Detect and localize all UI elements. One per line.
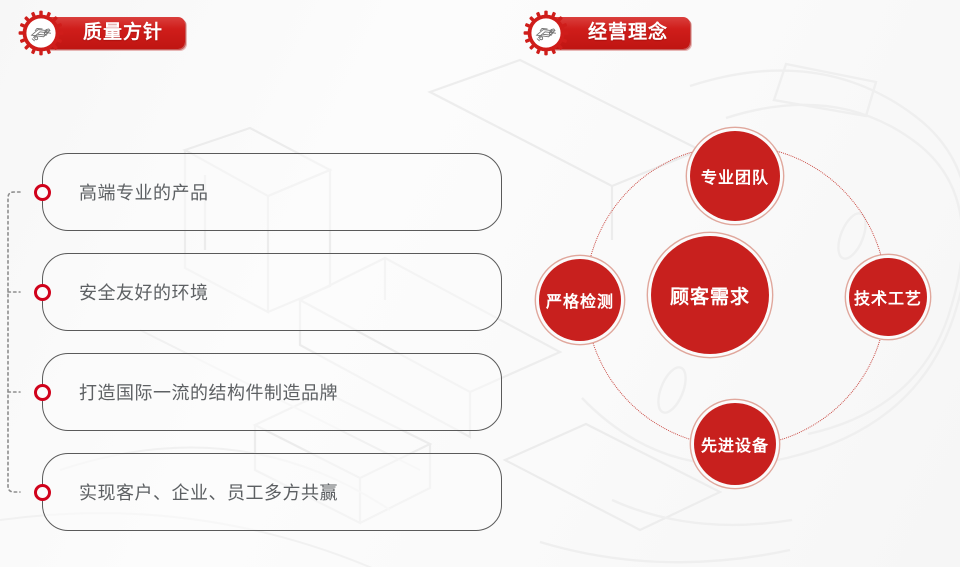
list-item-marker [34, 384, 51, 401]
list-item-marker [34, 484, 51, 501]
diagram-bubble-label: 先进设备 [701, 432, 769, 456]
diagram-bubble-left[interactable]: 严格检测 [539, 259, 621, 341]
list-item-label: 实现客户、企业、员工多方共赢 [43, 479, 338, 505]
diagram-bubble-bottom[interactable]: 先进设备 [694, 403, 776, 485]
list-item[interactable]: 高端专业的产品 [42, 153, 502, 231]
diagram-bubble-right[interactable]: 技术工艺 [849, 258, 927, 336]
gear-machinery-icon [523, 10, 569, 56]
list-item-marker [34, 184, 51, 201]
diagram-center-bubble[interactable]: 顾客需求 [651, 236, 769, 354]
list-item[interactable]: 实现客户、企业、员工多方共赢 [42, 453, 502, 531]
list-item-label: 安全友好的环境 [43, 279, 209, 305]
diagram-bubble-top[interactable]: 专业团队 [690, 131, 780, 221]
diagram-bubble-label: 专业团队 [701, 164, 769, 188]
diagram-bubble-label: 技术工艺 [854, 285, 922, 309]
list-item[interactable]: 打造国际一流的结构件制造品牌 [42, 353, 502, 431]
philosophy-diagram: 顾客需求 专业团队 技术工艺 先进设备 严格检测 [505, 95, 960, 567]
list-item-marker [34, 284, 51, 301]
slide-canvas: 质量方针 [0, 0, 960, 567]
list-item-label: 高端专业的产品 [43, 179, 209, 205]
list-item-label: 打造国际一流的结构件制造品牌 [43, 379, 338, 405]
gear-machinery-icon [18, 10, 64, 56]
list-item[interactable]: 安全友好的环境 [42, 253, 502, 331]
diagram-center-label: 顾客需求 [670, 282, 750, 309]
quality-policy-list: 高端专业的产品 安全友好的环境 打造国际一流的结构件制造品牌 实现客户、企业、员… [0, 0, 520, 567]
diagram-bubble-label: 严格检测 [546, 288, 614, 312]
